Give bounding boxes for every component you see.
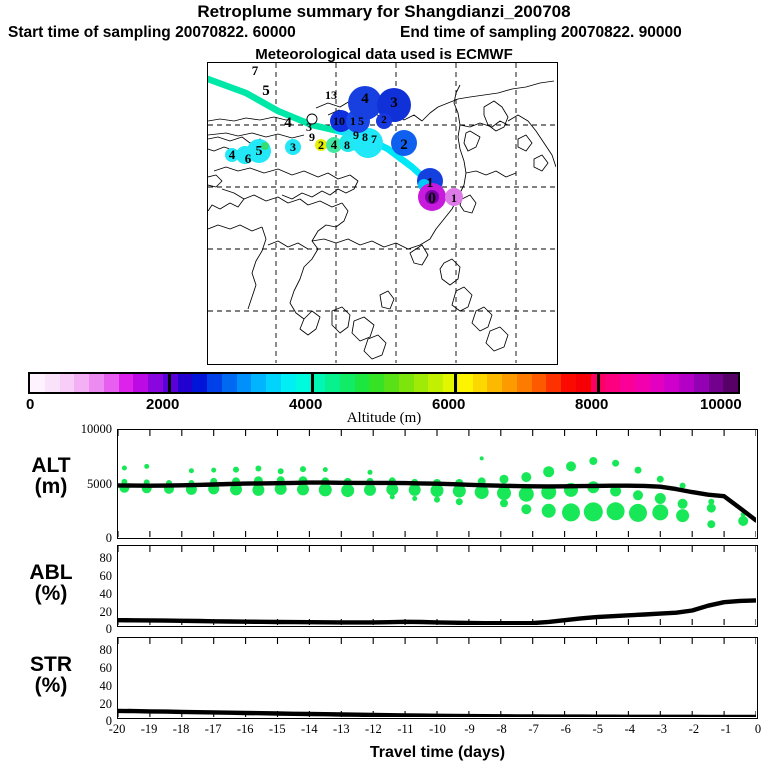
colorbar-swatch-43 [664,374,679,392]
svg-text:4: 4 [331,137,338,152]
str-ytick-20: 20 [62,697,112,712]
alt-label-line1: ALT [8,455,94,476]
svg-text:0: 0 [428,190,436,207]
abl-ytick-40: 40 [62,587,112,602]
colorbar-swatch-24 [384,374,399,392]
colorbar-swatch-47 [723,374,738,392]
retroplume-map[interactable]: 7 5 4 3 9 13 4 3 2 2 10 1 5 9 8 7 2 4 8 … [207,62,558,365]
colorbar-separator [311,372,314,394]
svg-text:8: 8 [362,130,368,144]
colorbar-swatch-3 [74,374,89,392]
alt-ytick-5000: 5000 [52,477,112,492]
str-ytick-60: 60 [62,661,112,676]
str-timeseries-panel[interactable] [117,637,758,719]
alt-timeseries-panel[interactable] [117,429,758,539]
colorbar-swatch-26 [414,374,429,392]
colorbar-swatch-30 [473,374,488,392]
colorbar-gradient [28,372,740,394]
colorbar-swatch-34 [532,374,547,392]
svg-text:4: 4 [284,115,292,131]
abl-ytick-20: 20 [62,605,112,620]
svg-text:13: 13 [325,88,337,102]
svg-text:3: 3 [290,140,296,154]
alt-ytick-10000: 10000 [52,422,112,437]
abl-timeseries-panel[interactable] [117,545,758,627]
abl-ytick-80: 80 [62,551,112,566]
svg-text:3: 3 [390,95,398,111]
meteorological-data-label: Meteorological data used is ECMWF [0,46,768,63]
colorbar-swatch-39 [605,374,620,392]
svg-text:10: 10 [333,114,345,128]
colorbar-swatch-41 [635,374,650,392]
colorbar-swatch-21 [340,374,355,392]
colorbar-swatch-15 [251,374,266,392]
svg-text:8: 8 [344,138,350,152]
colorbar-swatch-8 [148,374,163,392]
colorbar-swatch-11 [192,374,207,392]
map-canvas: 7 5 4 3 9 13 4 3 2 2 10 1 5 9 8 7 2 4 8 … [208,63,556,363]
colorbar-swatch-0 [30,374,45,392]
colorbar-swatch-2 [60,374,75,392]
svg-text:9: 9 [309,130,315,144]
colorbar-swatch-20 [325,374,340,392]
colorbar-swatch-10 [178,374,193,392]
svg-text:4: 4 [361,91,369,107]
colorbar-swatch-18 [296,374,311,392]
colorbar-swatch-44 [679,374,694,392]
colorbar-swatch-37 [576,374,591,392]
colorbar-swatch-12 [207,374,222,392]
svg-text:1: 1 [427,176,434,191]
colorbar-title: Altitude (m) [0,410,768,427]
colorbar-swatch-29 [458,374,473,392]
svg-text:1: 1 [451,191,457,205]
colorbar-swatch-5 [104,374,119,392]
colorbar-swatch-22 [355,374,370,392]
colorbar-separator [454,372,457,394]
svg-text:6: 6 [245,151,252,166]
alt-scatter-bubbles [119,456,748,528]
svg-text:7: 7 [371,132,377,146]
x-tick-0: 0 [738,722,768,737]
x-axis-title: Travel time (days) [117,744,758,762]
abl-plot-canvas [118,546,756,625]
start-time-label: Start time of sampling 20070822. 60000 [8,24,428,42]
colorbar-swatch-4 [89,374,104,392]
colorbar-swatch-31 [487,374,502,392]
svg-text:1: 1 [350,114,356,128]
str-ytick-80: 80 [62,643,112,658]
abl-ytick-0: 0 [62,622,112,637]
colorbar-swatch-23 [369,374,384,392]
colorbar-swatch-45 [694,374,709,392]
str-ytick-40: 40 [62,679,112,694]
svg-text:2: 2 [318,138,324,152]
svg-text:5: 5 [262,83,270,99]
colorbar-separator [597,372,600,394]
str-plot-canvas [118,638,756,717]
colorbar-swatch-17 [281,374,296,392]
colorbar-swatch-16 [266,374,281,392]
svg-text:7: 7 [252,63,259,78]
colorbar-swatch-35 [546,374,561,392]
abl-ytick-60: 60 [62,569,112,584]
colorbar-swatch-13 [222,374,237,392]
colorbar-swatch-46 [709,374,724,392]
colorbar-separator [168,372,171,394]
colorbar-swatch-42 [650,374,665,392]
page-title: Retroplume summary for Shangdianzi_20070… [0,2,768,22]
colorbar-swatch-6 [119,374,134,392]
colorbar-swatch-1 [45,374,60,392]
svg-text:2: 2 [400,137,408,153]
colorbar-swatch-36 [561,374,576,392]
colorbar-swatch-33 [517,374,532,392]
axis-ticks [118,638,756,717]
colorbar-swatch-40 [620,374,635,392]
colorbar-swatch-7 [133,374,148,392]
alt-plot-canvas [118,430,756,537]
svg-text:5: 5 [256,144,263,159]
svg-text:9: 9 [353,128,359,142]
altitude-colorbar[interactable] [28,372,740,394]
svg-text:5: 5 [358,114,364,128]
colorbar-swatch-32 [502,374,517,392]
colorbar-swatch-14 [237,374,252,392]
svg-text:2: 2 [381,114,387,126]
alt-ytick-0: 0 [52,531,112,546]
colorbar-swatch-27 [428,374,443,392]
colorbar-swatch-25 [399,374,414,392]
svg-text:4: 4 [229,147,236,162]
end-time-label: End time of sampling 20070822. 90000 [400,24,760,42]
